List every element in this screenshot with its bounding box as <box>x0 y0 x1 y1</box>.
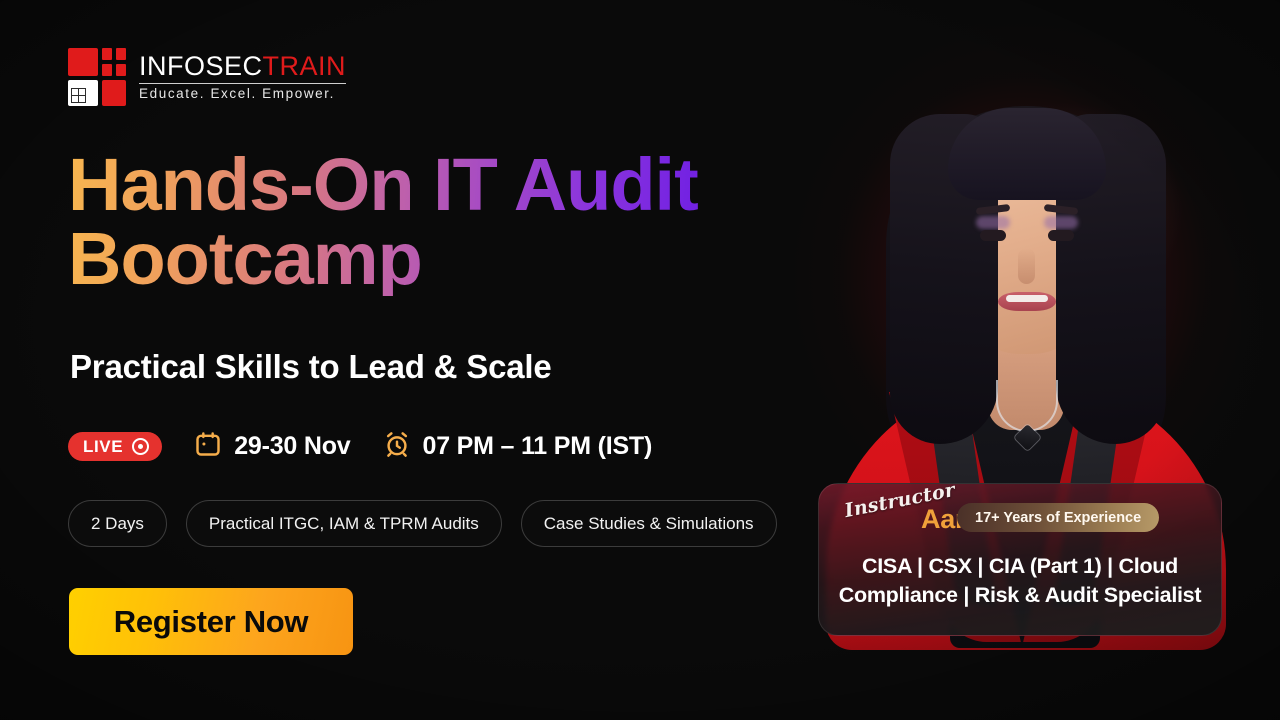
feature-pill-list: 2 Days Practical ITGC, IAM & TPRM Audits… <box>68 500 777 547</box>
event-date: 29-30 Nov <box>194 430 350 463</box>
teeth <box>1006 295 1048 302</box>
logo-squares-top-right <box>102 48 126 76</box>
brand-name-secondary: TRAIN <box>263 51 347 81</box>
eyeshadow-right <box>1044 216 1078 229</box>
logo-divider <box>139 83 346 84</box>
eye-right <box>1048 230 1074 241</box>
calendar-icon <box>194 430 222 463</box>
eyeshadow-left <box>976 216 1010 229</box>
headline-line-1: Hands-On IT Audit <box>68 143 698 226</box>
eye-left <box>980 230 1006 241</box>
hair-top <box>948 108 1106 200</box>
live-label: LIVE <box>83 438 123 455</box>
experience-badge: 17+ Years of Experience <box>957 503 1159 532</box>
headline-line-2: Bootcamp <box>68 222 768 296</box>
alarm-clock-icon <box>383 430 411 463</box>
logo-square-top-left <box>68 48 98 76</box>
nose <box>1018 248 1035 284</box>
brand-tagline: Educate. Excel. Empower. <box>139 87 346 101</box>
event-time: 07 PM – 11 PM (IST) <box>383 430 653 463</box>
event-time-text: 07 PM – 11 PM (IST) <box>423 432 653 461</box>
credentials-line-1: CISA | CSX | CIA (Part 1) | Cloud <box>862 554 1178 578</box>
brand-logo[interactable]: INFOSECTRAIN Educate. Excel. Empower. <box>68 48 346 106</box>
feature-pill: 2 Days <box>68 500 167 547</box>
infosectrain-grid-logo-icon <box>68 48 126 106</box>
promo-banner: INFOSECTRAIN Educate. Excel. Empower. Ha… <box>0 0 1280 720</box>
feature-pill: Practical ITGC, IAM & TPRM Audits <box>186 500 502 547</box>
event-date-text: 29-30 Nov <box>234 432 350 461</box>
event-meta-row: LIVE 29-30 Nov 07 <box>68 430 652 463</box>
logo-square-bottom-right <box>102 80 126 106</box>
instructor-card: Instructor Aarti 17+ Years of Experience… <box>818 483 1222 636</box>
feature-pill: Case Studies & Simulations <box>521 500 777 547</box>
credentials-line-2: Compliance | Risk & Audit Specialist <box>839 583 1201 607</box>
logo-square-bottom-left <box>68 80 98 106</box>
brand-name-primary: INFOSEC <box>139 51 263 81</box>
live-badge: LIVE <box>68 432 162 461</box>
brand-wordmark: INFOSECTRAIN Educate. Excel. Empower. <box>139 53 346 101</box>
page-title: Hands-On IT Audit Bootcamp <box>68 148 768 296</box>
record-circle-icon <box>132 438 149 455</box>
hero-subtitle: Practical Skills to Lead & Scale <box>70 348 552 386</box>
register-now-button[interactable]: Register Now <box>69 588 353 655</box>
instructor-credentials: CISA | CSX | CIA (Part 1) | Cloud Compli… <box>829 552 1211 610</box>
